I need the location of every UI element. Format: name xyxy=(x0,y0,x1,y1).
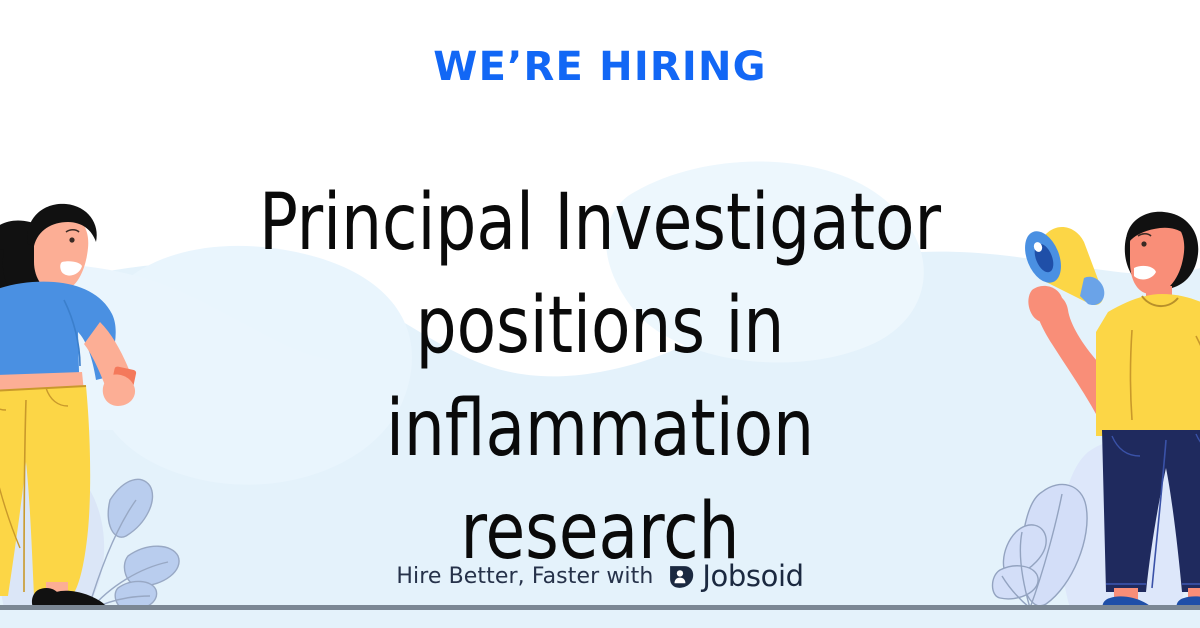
hiring-banner: WE’RE HIRING Principal Investigator posi… xyxy=(0,0,1200,628)
jobsoid-brand[interactable]: Jobsoid xyxy=(666,559,803,593)
eyebrow-label: WE’RE HIRING xyxy=(0,44,1200,90)
footer-tagline-bar: Hire Better, Faster with Jobsoid xyxy=(0,556,1200,596)
brand-name-label: Jobsoid xyxy=(702,559,803,593)
jobsoid-leaf-person-icon xyxy=(666,562,695,591)
page-title: Principal Investigator positions in infl… xyxy=(158,172,1041,584)
footer-tagline: Hire Better, Faster with xyxy=(396,564,653,589)
